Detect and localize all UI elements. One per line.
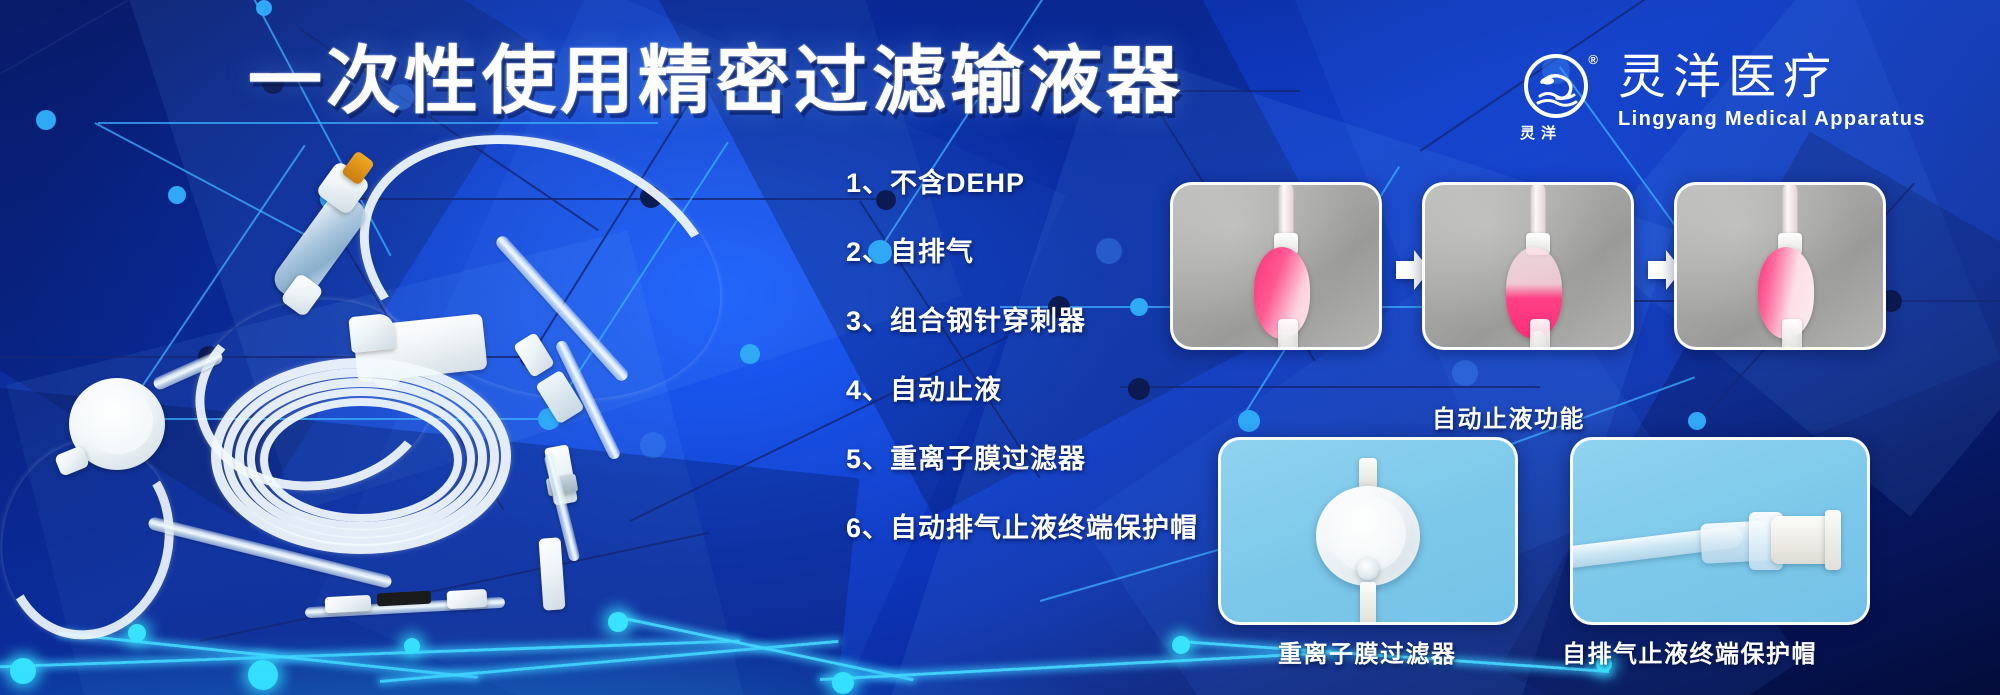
brand-text: 灵洋医疗 Lingyang Medical Apparatus xyxy=(1618,50,1926,131)
logo-emblem-label: 灵洋 xyxy=(1520,122,1596,143)
product-banner: 一次性使用精密过滤输液器 ® 灵洋 灵洋医疗 Lingyang Medical … xyxy=(0,0,2000,695)
page-title: 一次性使用精密过滤输液器 xyxy=(248,44,1184,118)
sequence-caption: 自动止液功能 xyxy=(1432,399,1585,434)
sequence-panel xyxy=(1170,182,1382,350)
feature-item: 3、组合钢针穿刺器 xyxy=(846,308,1198,335)
brand-name-cn: 灵洋医疗 xyxy=(1618,52,1926,104)
brand-logo: ® 灵洋 灵洋医疗 Lingyang Medical Apparatus xyxy=(1520,50,1926,131)
hero-product-photo xyxy=(55,150,695,550)
feature-item: 1、不含DEHP xyxy=(846,170,1198,197)
product-panel-caption: 重离子膜过滤器 xyxy=(1278,634,1457,669)
product-panel xyxy=(1218,437,1518,625)
banner-title-wrap: 一次性使用精密过滤输液器 xyxy=(248,44,1184,118)
feature-item: 4、自动止液 xyxy=(846,377,1198,404)
logo-emblem-icon: ® 灵洋 xyxy=(1520,50,1596,126)
product-panel-caption: 自排气止液终端保护帽 xyxy=(1562,634,1817,669)
feature-item: 6、自动排气止液终端保护帽 xyxy=(846,515,1198,542)
feature-item: 5、重离子膜过滤器 xyxy=(846,446,1198,473)
product-panel xyxy=(1570,437,1870,625)
registered-trademark-icon: ® xyxy=(1588,52,1598,67)
brand-name-en: Lingyang Medical Apparatus xyxy=(1618,108,1926,131)
feature-item: 2、自排气 xyxy=(846,239,1198,266)
feature-list: 1、不含DEHP 2、自排气 3、组合钢针穿刺器 4、自动止液 5、重离子膜过滤… xyxy=(846,170,1198,584)
sequence-panel xyxy=(1422,182,1634,350)
sequence-panel xyxy=(1674,182,1886,350)
